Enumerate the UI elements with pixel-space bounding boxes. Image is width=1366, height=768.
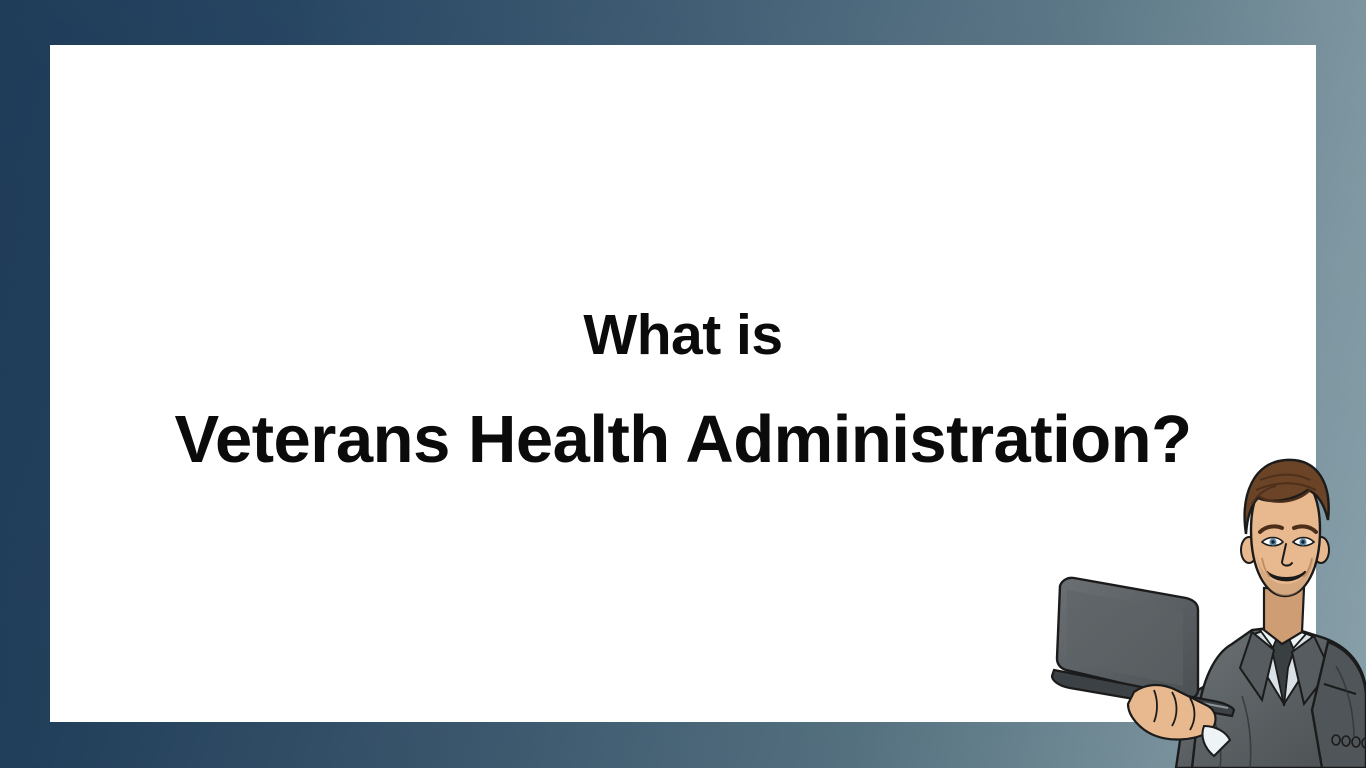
slide-canvas: What is Veterans Health Administration? [0,0,1366,768]
title-line-2: Veterans Health Administration? [50,400,1316,480]
content-panel: What is Veterans Health Administration? [50,45,1316,722]
title-block: What is Veterans Health Administration? [50,300,1316,480]
cuff-buttons [1332,735,1366,748]
title-line-1: What is [50,300,1316,370]
